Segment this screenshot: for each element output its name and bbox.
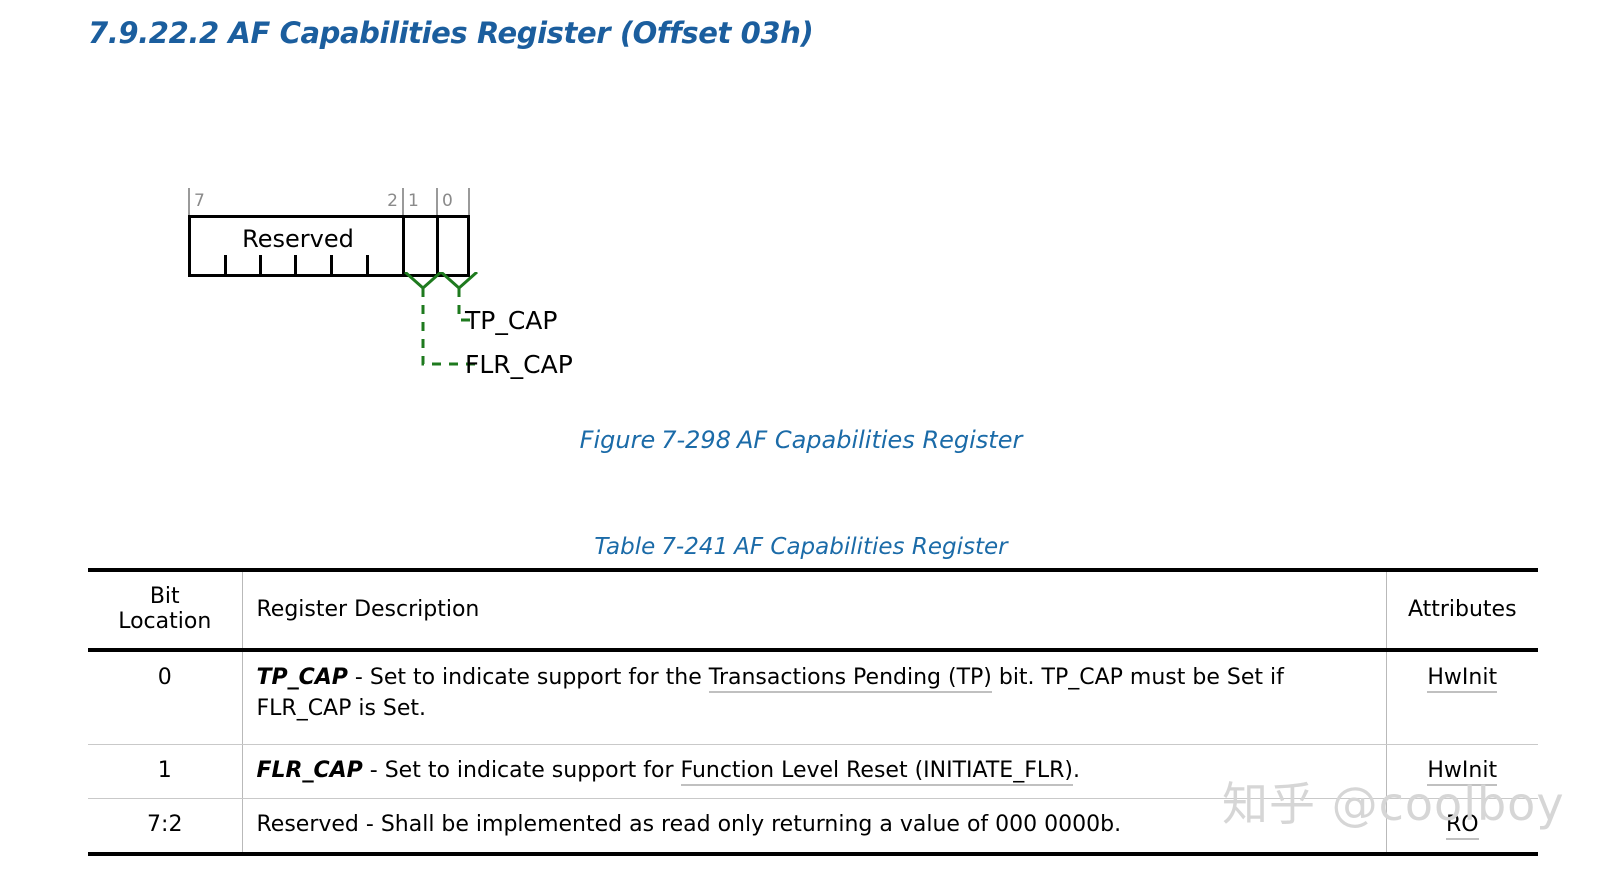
- bit-tick-6: [224, 255, 227, 274]
- desc-text-before: Reserved - Shall be implemented as read …: [257, 812, 1122, 837]
- bit-number-1: 1: [408, 188, 419, 215]
- cross-reference-link[interactable]: Function Level Reset (INITIATE_FLR): [681, 758, 1074, 786]
- attribute-link[interactable]: HwInit: [1427, 758, 1497, 786]
- cell-register-description: Reserved - Shall be implemented as read …: [242, 799, 1386, 855]
- field-term: FLR_CAP: [257, 758, 363, 783]
- cell-bit-location: 7:2: [88, 799, 242, 855]
- bit-divider-1-0: [436, 218, 439, 274]
- register-bit-box: Reserved: [188, 215, 470, 277]
- table-row: 1 FLR_CAP - Set to indicate support for …: [88, 745, 1538, 799]
- table-row: 7:2 Reserved - Shall be implemented as r…: [88, 799, 1538, 855]
- bit-field-figure: 7 2 1 0 Reserved TP_CAP FLR_CAP: [188, 188, 888, 398]
- cell-register-description: TP_CAP - Set to indicate support for the…: [242, 650, 1386, 745]
- field-term: TP_CAP: [257, 665, 348, 690]
- bit-number-2: 2: [387, 188, 398, 215]
- bit-tick-5: [259, 255, 262, 274]
- figure-caption: Figure7-298AF Capabilities Register: [0, 426, 1602, 454]
- callout-label-tp-cap: TP_CAP: [465, 306, 557, 335]
- bit-divider-2-1: [402, 218, 405, 274]
- cell-attributes: RO: [1386, 799, 1538, 855]
- cross-reference-link[interactable]: Transactions Pending (TP): [709, 665, 992, 693]
- bit-number-7: 7: [194, 188, 205, 215]
- table-caption-prefix: Table: [594, 534, 655, 560]
- bit-range-1: 1: [402, 188, 436, 215]
- figure-caption-prefix: Figure: [580, 426, 656, 454]
- bit-range-0: 0: [436, 188, 470, 215]
- bit-tick-4: [294, 255, 297, 274]
- cell-bit-location: 1: [88, 745, 242, 799]
- bit-tick-2: [366, 255, 369, 274]
- figure-caption-number: 7-298: [661, 426, 731, 454]
- field-label-reserved: Reserved: [191, 225, 405, 253]
- bit-ruler-endcap: [468, 188, 470, 215]
- cell-register-description: FLR_CAP - Set to indicate support for Fu…: [242, 745, 1386, 799]
- table-caption-number: 7-241: [661, 534, 728, 560]
- callout-leader-lines: [383, 272, 783, 382]
- bit-range-7-2: 7 2: [188, 188, 402, 215]
- bit-number-ruler: 7 2 1 0: [188, 188, 470, 215]
- bit-number-0: 0: [442, 188, 453, 215]
- desc-text-before: - Set to indicate support for the: [348, 665, 709, 690]
- table-caption: Table7-241AF Capabilities Register: [0, 534, 1602, 560]
- bit-tick-3: [330, 255, 333, 274]
- column-header-attributes: Attributes: [1386, 570, 1538, 650]
- attribute-link[interactable]: HwInit: [1427, 665, 1497, 693]
- table-caption-title: AF Capabilities Register: [734, 534, 1007, 560]
- desc-text-before: - Set to indicate support for: [363, 758, 681, 783]
- attribute-link[interactable]: RO: [1446, 812, 1479, 840]
- cell-attributes: HwInit: [1386, 650, 1538, 745]
- register-description-table: Bit Location Register Description Attrib…: [88, 568, 1538, 856]
- cell-attributes: HwInit: [1386, 745, 1538, 799]
- figure-caption-title: AF Capabilities Register: [737, 426, 1022, 454]
- column-header-bit-location: Bit Location: [88, 570, 242, 650]
- page-title: 7.9.22.2 AF Capabilities Register (Offse…: [88, 16, 813, 50]
- callout-label-flr-cap: FLR_CAP: [465, 350, 573, 379]
- cell-bit-location: 0: [88, 650, 242, 745]
- desc-text-after: .: [1073, 758, 1080, 783]
- column-header-register-description: Register Description: [242, 570, 1386, 650]
- table-header-row: Bit Location Register Description Attrib…: [88, 570, 1538, 650]
- table-row: 0 TP_CAP - Set to indicate support for t…: [88, 650, 1538, 745]
